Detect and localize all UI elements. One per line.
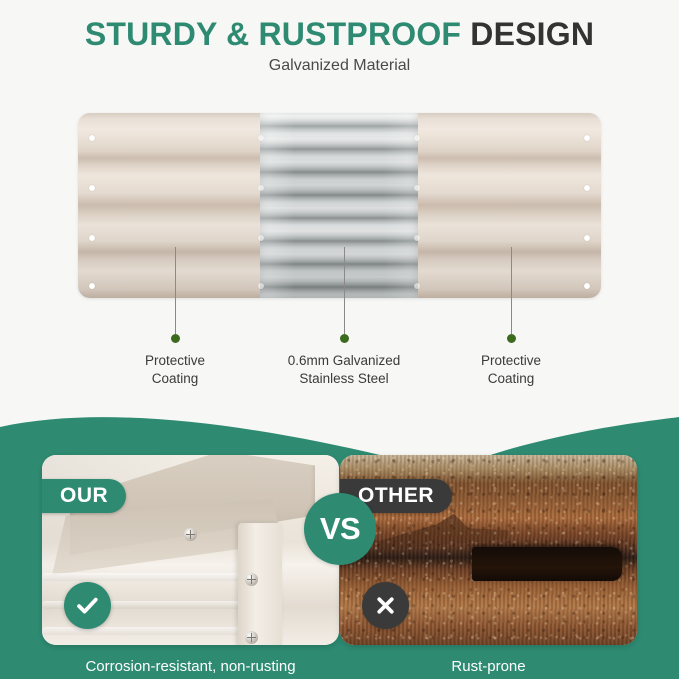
page-title: STURDY & RUSTPROOF DESIGN [0,17,679,52]
badge-our: OUR [42,479,126,513]
screw-icon [245,573,258,586]
caption-other: Rust-prone [340,655,637,679]
callout-label-center: 0.6mm Galvanized Stainless Steel [254,352,434,388]
screw-icon [245,631,258,644]
screw-hole [584,135,590,141]
callout-dot [340,334,349,343]
comparison-card-other: OTHER [340,455,637,645]
screw-hole [414,185,420,191]
screw-hole [584,185,590,191]
caption-our: Corrosion-resistant, non-rusting [42,655,339,679]
callout-leader-line [511,247,512,334]
galvanized-steel-panel [78,113,601,298]
screw-hole [89,185,95,191]
cross-glyph [373,593,398,618]
callout-leader-line [344,247,345,334]
screw-hole [414,283,420,289]
screw-icon [184,528,197,541]
screw-hole [584,235,590,241]
screw-hole [258,235,264,241]
page-subtitle: Galvanized Material [0,57,679,75]
vs-badge: VS [304,493,376,565]
bed-rib [42,573,252,581]
bed-rib [42,627,252,635]
callout-leader-line [175,247,176,334]
screw-hole [89,135,95,141]
screw-hole [258,185,264,191]
check-glyph [74,592,101,619]
rust-gap [472,547,622,581]
comparison-card-our: OUR [42,455,339,645]
title-emphasis: DESIGN [470,16,594,52]
panel-illustration [78,113,601,298]
screw-hole [89,235,95,241]
check-icon [64,582,111,629]
screw-hole [258,283,264,289]
screw-hole [89,283,95,289]
screw-hole [414,235,420,241]
bed-corner-post [238,523,282,645]
callout-dot [171,334,180,343]
callout-label-left: Protective Coating [100,352,250,388]
title-highlight: STURDY & RUSTPROOF [85,16,461,52]
infographic-root: STURDY & RUSTPROOF DESIGN Galvanized Mat… [0,0,679,679]
callout-dot [507,334,516,343]
screw-hole [584,283,590,289]
screw-hole [414,135,420,141]
callout-label-right: Protective Coating [436,352,586,388]
galvanized-steel-core [260,113,418,298]
cross-icon [362,582,409,629]
screw-hole [258,135,264,141]
